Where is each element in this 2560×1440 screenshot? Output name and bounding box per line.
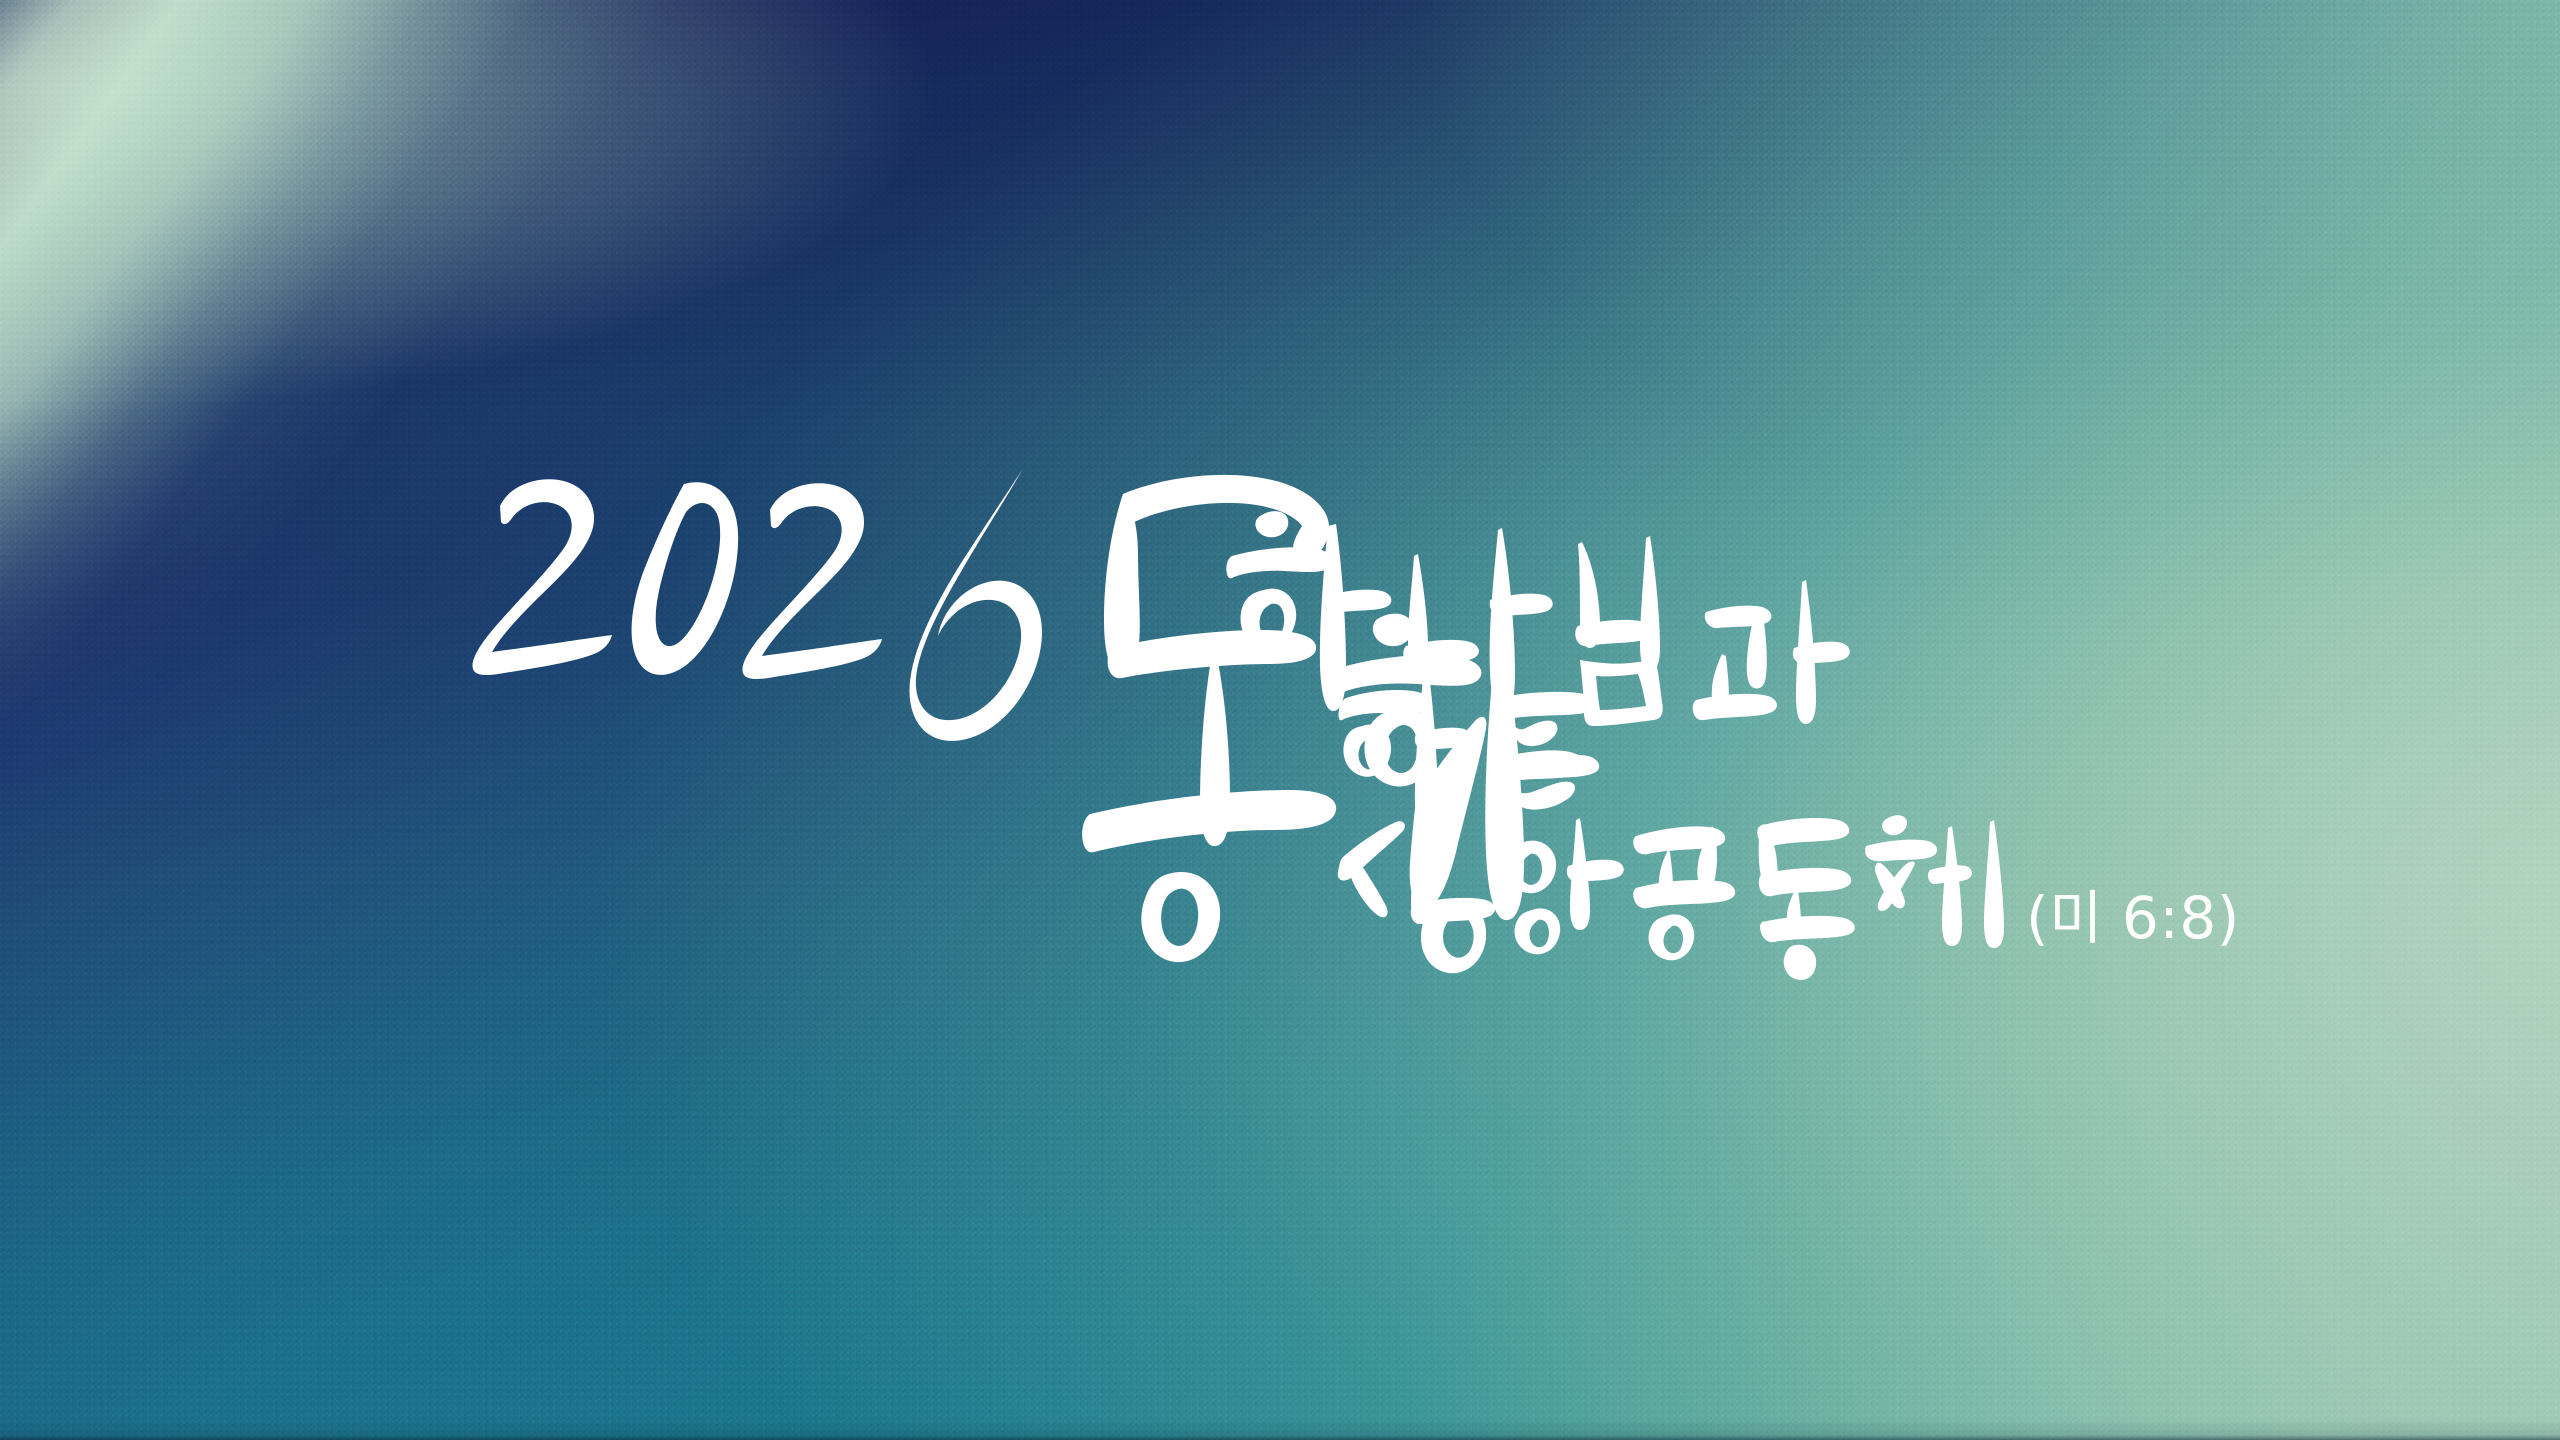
poster-canvas: 2026 동행 하나님과 하는 신앙공동체 (0, 0, 2560, 1440)
background-vignette (0, 0, 2560, 1440)
